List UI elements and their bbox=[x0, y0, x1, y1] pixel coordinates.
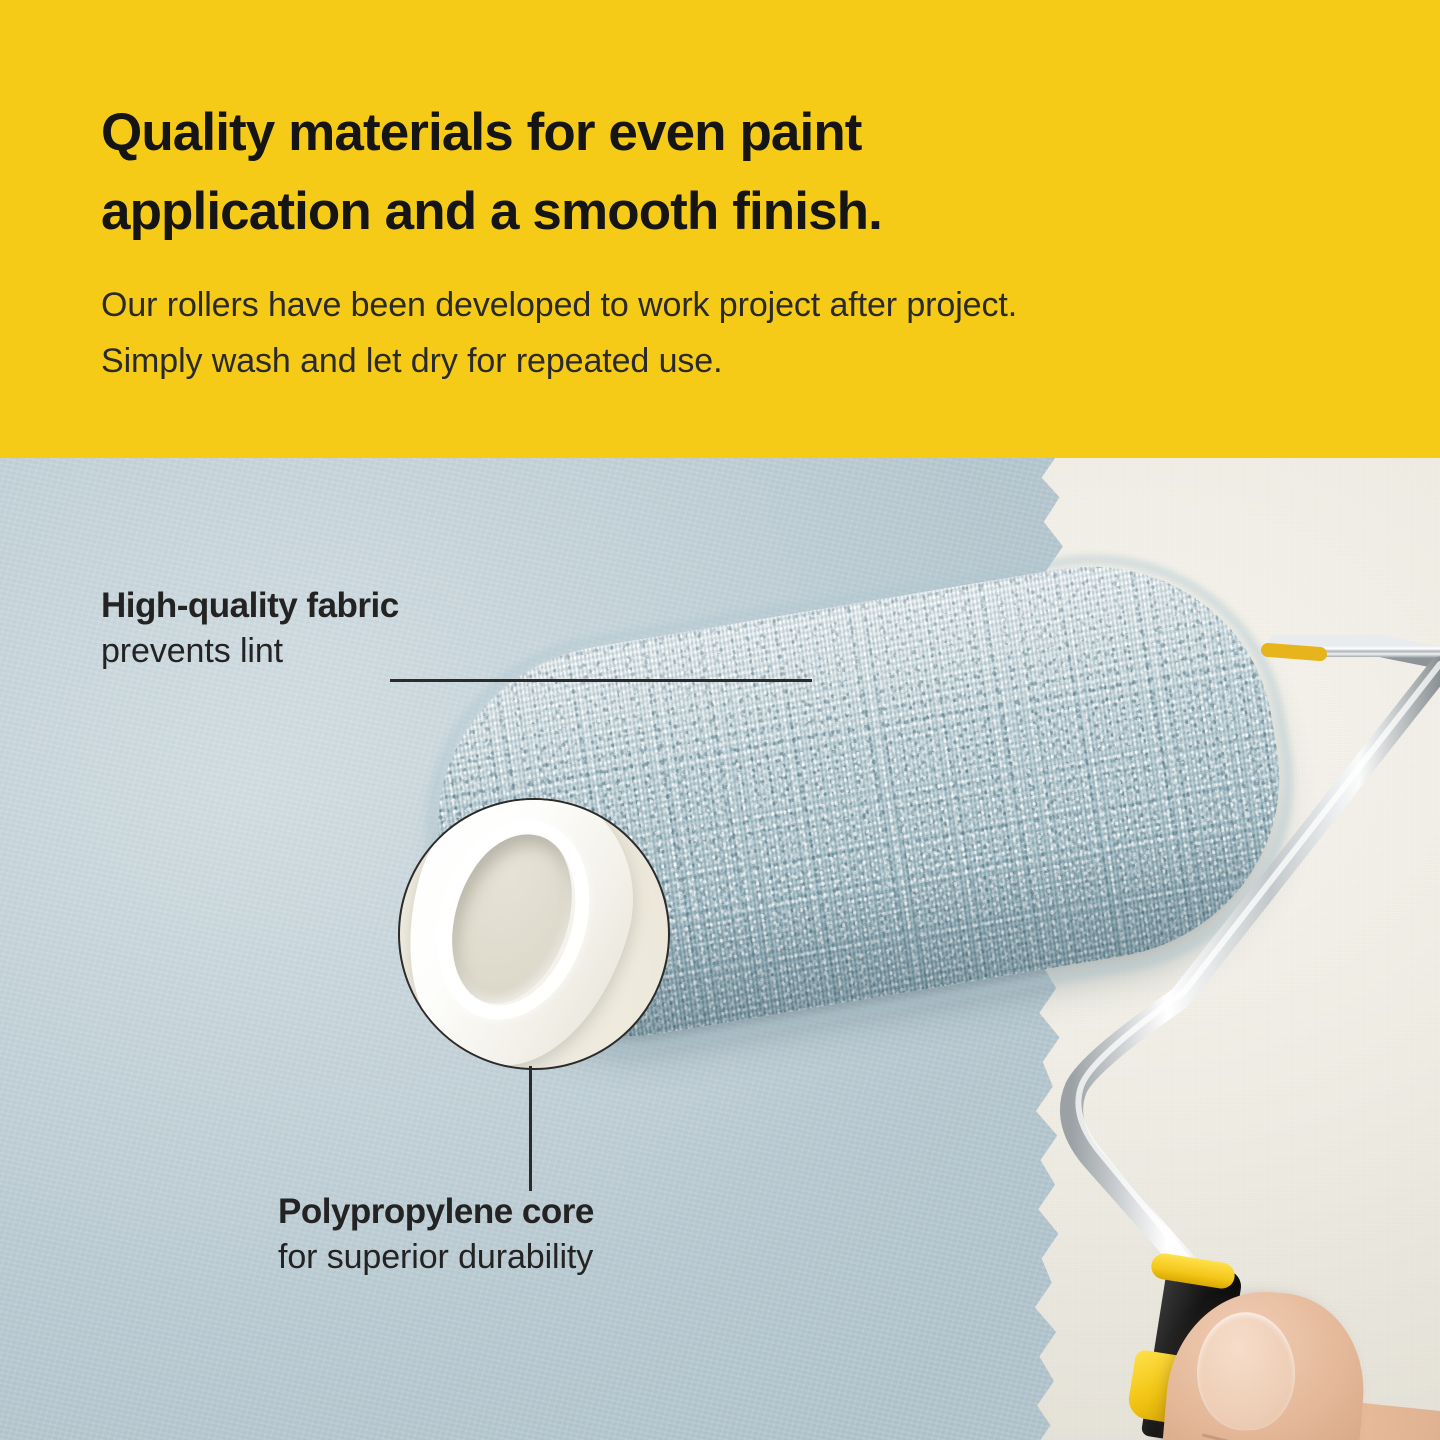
paint-roller-infographic: Quality materials for even paint applica… bbox=[0, 0, 1440, 1440]
callout-title: Polypropylene core bbox=[278, 1190, 594, 1234]
callout-description: for superior durability bbox=[278, 1234, 594, 1280]
product-photo: High-quality fabric prevents lint Polypr… bbox=[0, 458, 1440, 1440]
callout-high-quality-fabric: High-quality fabric prevents lint bbox=[101, 584, 399, 674]
thumbnail bbox=[1196, 1311, 1296, 1431]
banner-subtitle: Our rollers have been developed to work … bbox=[101, 277, 1361, 389]
leader-line-vertical-icon bbox=[529, 1066, 532, 1191]
core-magnifier-circle bbox=[398, 798, 670, 1070]
banner: Quality materials for even paint applica… bbox=[0, 0, 1440, 458]
leader-line-horizontal-icon bbox=[390, 679, 812, 682]
callout-polypropylene-core: Polypropylene core for superior durabili… bbox=[278, 1190, 594, 1280]
thumb-crease bbox=[1202, 1433, 1319, 1440]
banner-heading: Quality materials for even paint applica… bbox=[101, 93, 1221, 251]
callout-title: High-quality fabric bbox=[101, 584, 399, 628]
callout-description: prevents lint bbox=[101, 628, 399, 674]
